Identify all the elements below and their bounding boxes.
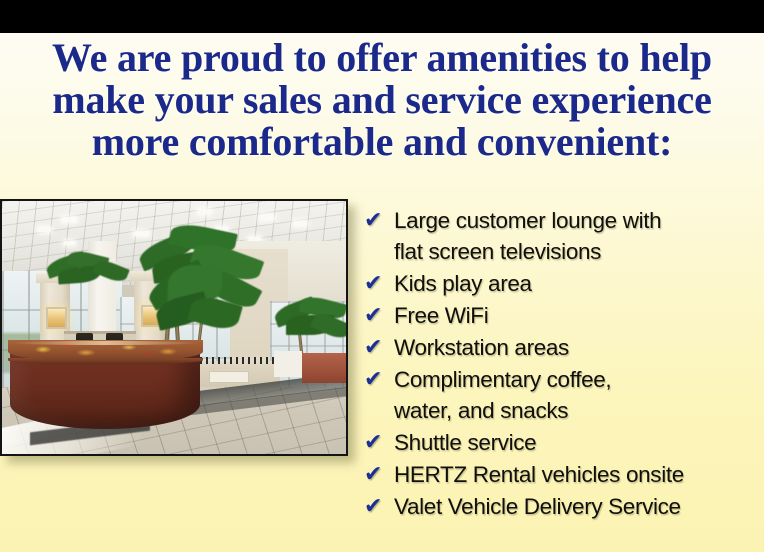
photo-ceiling-light [134,231,149,236]
list-item-label: Kids play area [394,268,764,299]
check-icon: ✔ [364,300,394,331]
list-item-label: Valet Vehicle Delivery Service [394,491,764,522]
check-icon: ✔ [364,491,394,522]
list-item: ✔ Valet Vehicle Delivery Service [364,491,764,522]
list-item-label: Complimentary coffee, water, and snacks [394,364,764,426]
list-item: ✔ Complimentary coffee, water, and snack… [364,364,764,426]
page-title: We are proud to offer amenities to help … [6,37,758,163]
slide-canvas: We are proud to offer amenities to help … [0,0,764,552]
check-icon: ✔ [364,427,394,458]
list-item-label: HERTZ Rental vehicles onsite [394,459,764,490]
heading-line-1: We are proud to offer amenities to help [6,37,758,79]
top-letterbox-bar [0,0,764,33]
check-icon: ✔ [364,364,394,395]
lobby-photo [0,199,348,456]
photo-sign-plaque [209,371,249,383]
list-item: ✔ Shuttle service [364,427,764,458]
check-icon: ✔ [364,332,394,363]
amenities-list: ✔ Large customer lounge with flat screen… [364,205,764,523]
heading-line-2: make your sales and service experience [6,79,758,121]
photo-far-panel [274,351,302,377]
photo-ceiling-light [198,209,211,214]
photo-wall-sconce-left [46,307,67,329]
photo-ceiling-light [294,221,307,226]
photo-far-counter [302,353,348,383]
list-item-label: Workstation areas [394,332,764,363]
photo-ceiling-light [38,227,51,232]
heading-line-3: more comfortable and convenient: [6,121,758,163]
photo-ceiling-light [62,217,76,222]
list-item: ✔ Large customer lounge with flat screen… [364,205,764,267]
list-item-label: Large customer lounge with flat screen t… [394,205,764,267]
list-item-label: Shuttle service [394,427,764,458]
check-icon: ✔ [364,268,394,299]
photo-reception-desk [10,353,200,429]
check-icon: ✔ [364,459,394,490]
list-item: ✔ Free WiFi [364,300,764,331]
list-item: ✔ Kids play area [364,268,764,299]
list-item-label: Free WiFi [394,300,764,331]
list-item: ✔ Workstation areas [364,332,764,363]
list-item: ✔ HERTZ Rental vehicles onsite [364,459,764,490]
photo-desk-highlight [12,341,198,345]
photo-ceiling-light [64,241,75,245]
photo-ceiling-light [260,215,274,220]
check-icon: ✔ [364,205,394,236]
